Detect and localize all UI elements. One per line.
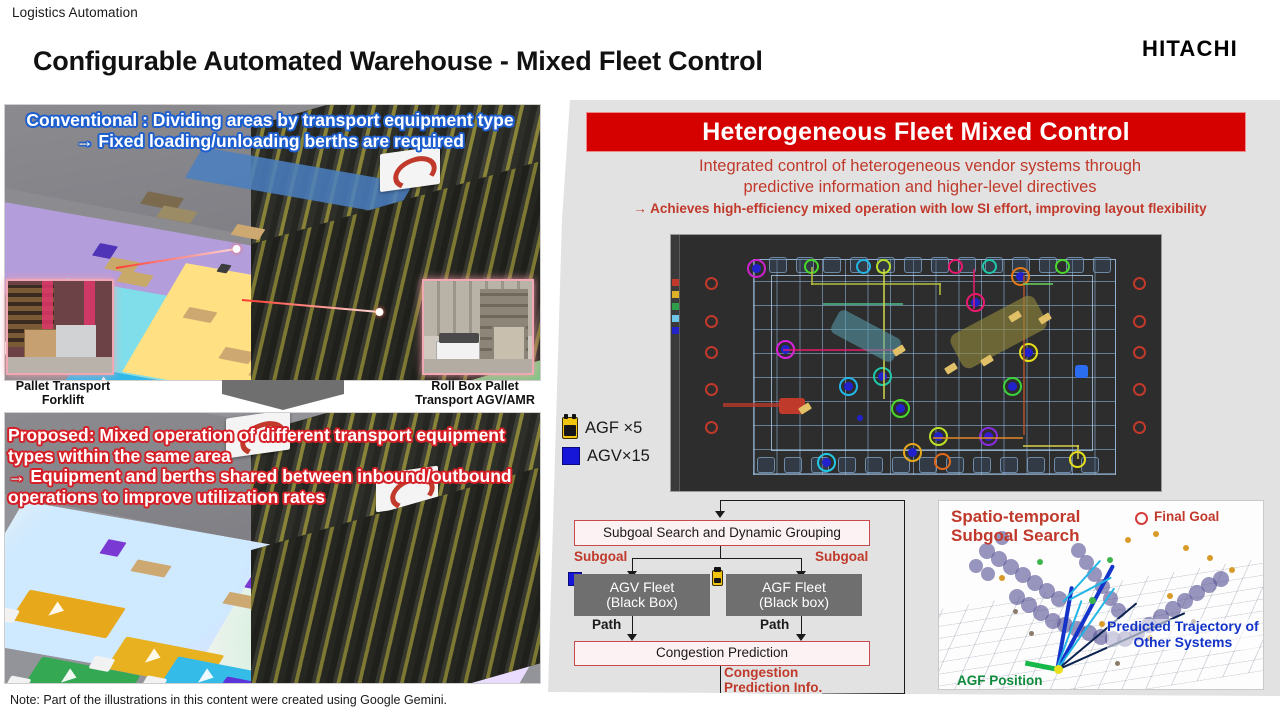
sim-goal-ring	[1133, 277, 1146, 290]
sim-station	[1093, 257, 1111, 273]
scatter-point	[1153, 531, 1159, 537]
sim-station	[1027, 457, 1045, 473]
scatter-point	[1183, 545, 1189, 551]
scatter-point	[999, 575, 1005, 581]
sim-agv-body	[1024, 348, 1033, 357]
sim-station	[823, 257, 841, 273]
sim-station	[838, 457, 856, 473]
sim-swatch-yellow	[672, 291, 679, 298]
scatter-point	[1029, 631, 1034, 636]
scatter-point	[1115, 661, 1120, 666]
final-goal-icon	[1135, 512, 1148, 525]
flow-line-right-drop	[801, 558, 802, 572]
predicted-trajectory-label: Predicted Trajectory of Other Systems	[1107, 619, 1259, 650]
final-goal-label: Final Goal	[1154, 509, 1219, 524]
flow-label-congestion-info: Congestion Prediction Info.	[724, 666, 822, 695]
scatter-point	[1099, 621, 1105, 627]
flow-box-agv-fleet[interactable]: AGV Fleet (Black Box)	[574, 574, 710, 616]
agf-icon	[712, 570, 723, 586]
agf-position-label: AGF Position	[957, 673, 1043, 688]
agf-position-dot	[1054, 665, 1063, 674]
flow-box-agv-fleet-label: AGV Fleet (Black Box)	[606, 580, 678, 611]
sim-path	[933, 437, 1023, 439]
inset-pallet-transport-forklift	[6, 279, 114, 375]
spatio-temporal-subgoal-panel: Spatio-temporal Subgoal Search Final Goa…	[938, 500, 1264, 690]
subtitle-line-1: Integrated control of heterogeneous vend…	[570, 156, 1270, 177]
photo-amr	[424, 281, 532, 373]
scatter-point	[1125, 537, 1131, 543]
transition-down-arrow	[222, 380, 344, 410]
flow-label-path-right: Path	[760, 618, 789, 633]
sim-path	[811, 267, 813, 285]
conventional-caption: Conventional : Dividing areas by transpo…	[10, 110, 530, 151]
page-title: Configurable Automated Warehouse - Mixed…	[33, 46, 763, 77]
sim-agv-marker	[982, 259, 997, 274]
trajectory-cloud	[1213, 571, 1229, 587]
sim-path	[973, 269, 975, 309]
sim-station	[904, 257, 922, 273]
flow-line-feedback-top	[720, 500, 905, 501]
sim-goal-ring	[705, 315, 718, 328]
right-panel: Heterogeneous Fleet Mixed Control Integr…	[540, 100, 1280, 696]
trajectory-cloud	[981, 567, 995, 581]
sim-path	[1023, 283, 1053, 285]
hitachi-logo: HITACHI	[1142, 36, 1238, 62]
sim-goal-ring	[705, 421, 718, 434]
flow-arrow-agf-path	[796, 634, 806, 641]
flow-box-agf-fleet[interactable]: AGF Fleet (Black box)	[726, 574, 862, 616]
sim-agv-body	[844, 382, 853, 391]
sim-swatch-blue	[672, 327, 679, 334]
slide-kicker: Logistics Automation	[12, 5, 138, 20]
scatter-point	[1229, 567, 1235, 573]
sim-path	[1077, 445, 1079, 459]
sim-path	[823, 303, 903, 305]
sim-agv-body	[822, 458, 831, 467]
sim-goal-ring	[1133, 421, 1146, 434]
banner-title: Heterogeneous Fleet Mixed Control	[702, 118, 1130, 147]
inset-roll-box-pallet-agv-amr	[422, 279, 534, 375]
scatter-point	[1037, 559, 1043, 565]
scatter-point	[1089, 597, 1096, 604]
sim-agv-marker	[1055, 259, 1070, 274]
sim-goal-ring	[705, 346, 718, 359]
agf-icon	[562, 417, 578, 439]
spatio-temporal-title: Spatio-temporal Subgoal Search	[951, 507, 1080, 545]
flow-line-split-stem	[720, 546, 721, 558]
sim-goal-ring	[1133, 383, 1146, 396]
scatter-point	[1107, 557, 1113, 563]
inset-forklift-label: Pallet Transport Forklift	[2, 379, 124, 407]
subtitle-line-3: → Achieves high-efficiency mixed operati…	[570, 201, 1270, 216]
flow-box-congestion-prediction[interactable]: Congestion Prediction	[574, 641, 870, 666]
sim-toolstrip	[671, 235, 680, 491]
sim-swatch-red	[672, 279, 679, 286]
inset-amr-label: Roll Box Pallet Transport AGV/AMR	[404, 379, 546, 407]
sim-grid-inner	[771, 275, 1093, 451]
sim-agv-marker	[948, 259, 963, 274]
sim-station	[865, 457, 883, 473]
heterogeneous-fleet-banner: Heterogeneous Fleet Mixed Control	[586, 112, 1246, 152]
sim-station	[769, 257, 787, 273]
flow-line-split-bar	[632, 558, 802, 559]
photo-forklift	[8, 281, 112, 373]
legend-label-agf: AGF ×5	[585, 419, 642, 438]
sim-agv-body	[1008, 382, 1017, 391]
flow-arrow-agv-path	[627, 634, 637, 641]
flow-box-subgoal-search-label: Subgoal Search and Dynamic Grouping	[603, 526, 841, 541]
flow-label-path-left: Path	[592, 618, 621, 633]
sim-agv-body	[1075, 365, 1088, 378]
legend-row-agf: AGF ×5	[562, 416, 650, 440]
scatter-point	[1013, 609, 1018, 614]
flow-line-feedback-side	[904, 500, 905, 694]
flow-box-agf-fleet-label: AGF Fleet (Black box)	[759, 580, 829, 611]
sim-dot	[857, 415, 863, 421]
sim-goal-ring	[705, 383, 718, 396]
legend-label-agv: AGV×15	[587, 447, 650, 466]
flow-label-subgoal-left: Subgoal	[574, 550, 627, 565]
flow-line-left-drop	[632, 558, 633, 572]
legend-row-agv: AGV×15	[562, 444, 650, 468]
sim-station	[973, 457, 991, 473]
subtitle-block: Integrated control of heterogeneous vend…	[570, 156, 1270, 216]
sim-agv-body	[908, 448, 917, 457]
sim-station	[1000, 457, 1018, 473]
sim-agv-marker	[934, 453, 951, 470]
flow-box-subgoal-search[interactable]: Subgoal Search and Dynamic Grouping	[574, 520, 870, 546]
slide-root: Logistics Automation Configurable Automa…	[0, 0, 1280, 715]
sim-swatch-green	[672, 303, 679, 310]
sim-goal-ring	[1133, 315, 1146, 328]
proposed-caption: Proposed: Mixed operation of different t…	[8, 425, 548, 508]
simulation-viewport[interactable]	[670, 234, 1162, 492]
sim-agv-marker	[856, 259, 871, 274]
scatter-point	[1167, 593, 1173, 599]
sim-station	[784, 457, 802, 473]
sim-path	[1023, 445, 1079, 447]
sim-station	[757, 457, 775, 473]
sim-agv-body	[896, 404, 905, 413]
flow-arrow-into-subgoal	[715, 511, 725, 518]
sim-goal-ring	[1133, 346, 1146, 359]
scatter-point	[1207, 555, 1213, 561]
control-flow-diagram: Subgoal Search and Dynamic Grouping Subg…	[560, 500, 920, 696]
flow-label-subgoal-right: Subgoal	[815, 550, 868, 565]
agv-icon	[562, 447, 580, 465]
sim-path	[723, 403, 787, 407]
footnote: Note: Part of the illustrations in this …	[10, 693, 447, 707]
sim-path	[939, 283, 941, 295]
sim-path	[811, 283, 941, 285]
sim-agv-body	[752, 264, 761, 273]
flow-box-congestion-prediction-label: Congestion Prediction	[656, 646, 788, 661]
subtitle-line-2: predictive information and higher-level …	[570, 177, 1270, 198]
sim-station	[931, 257, 949, 273]
sim-goal-ring	[705, 277, 718, 290]
sim-swatch-cyan	[672, 315, 679, 322]
flow-line-feedback-down	[720, 666, 721, 694]
fleet-legend: AGF ×5 AGV×15	[562, 416, 650, 472]
